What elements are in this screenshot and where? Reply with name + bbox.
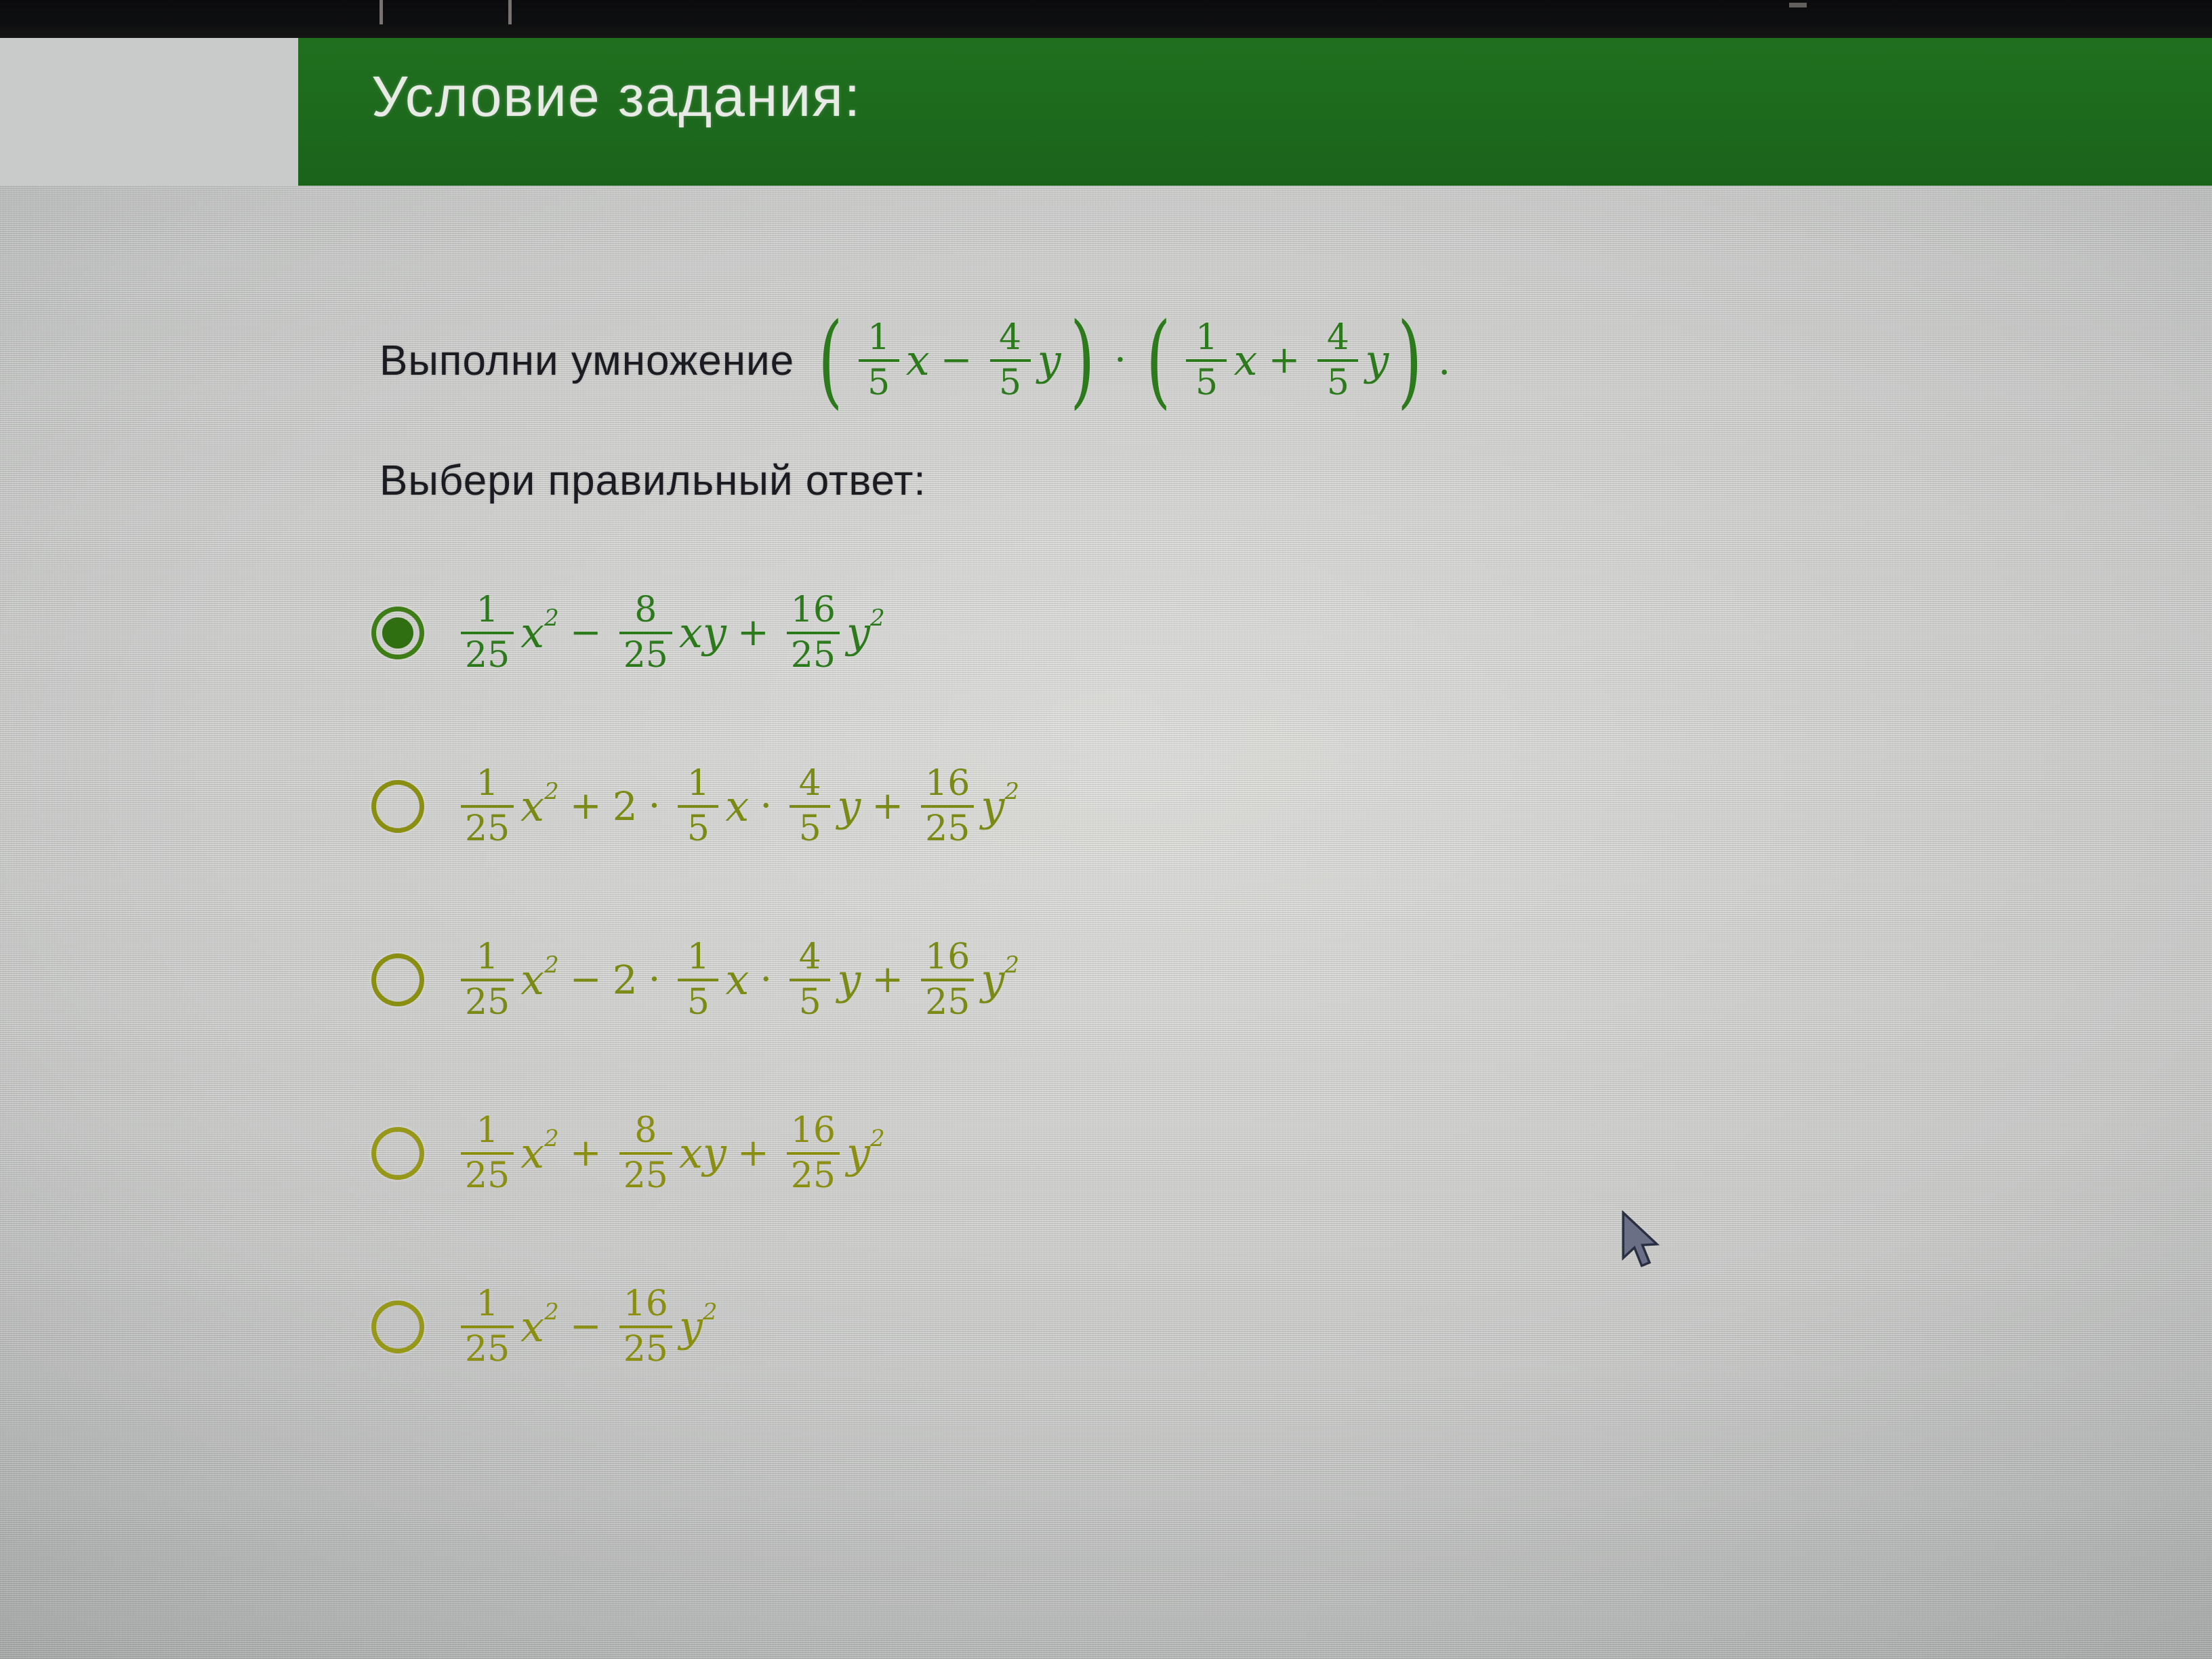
variable-y: y <box>679 1306 703 1348</box>
fraction-denominator: 25 <box>461 813 514 846</box>
fraction-1-5: 1 5 <box>678 941 718 1020</box>
multiply-dot: · <box>760 787 772 825</box>
monitor-photo: Условие задания: Выполни умножение ( 1 5… <box>0 0 2212 1659</box>
fraction-bar <box>921 979 974 981</box>
fraction-1-5: 1 5 <box>678 767 718 846</box>
open-paren-2: ( <box>1146 324 1170 397</box>
answer-expression-5: 1 25 x 2 − 16 25 y 2 <box>454 1288 718 1367</box>
fraction-numerator: 16 <box>787 1114 840 1147</box>
variable-x: x <box>520 612 544 654</box>
fraction-numerator: 4 <box>995 321 1025 354</box>
answer-expression-2: 1 25 x 2 + 2 · 1 5 <box>454 767 1019 846</box>
fraction-numerator: 16 <box>787 594 840 627</box>
fraction-bar <box>990 359 1031 362</box>
header-left-gutter <box>0 38 298 186</box>
fraction-denominator: 25 <box>461 639 514 672</box>
fraction-1-25: 1 25 <box>461 594 514 673</box>
variable-x: x <box>520 1132 544 1174</box>
fraction-8-25: 8 25 <box>619 594 672 673</box>
fraction-numerator: 4 <box>795 767 825 800</box>
fraction-denominator: 25 <box>461 1160 514 1193</box>
variable-y: y <box>837 959 861 1001</box>
variable-x: x <box>520 785 544 827</box>
multiply-dot: · <box>649 961 661 999</box>
fraction-bar <box>619 632 672 634</box>
fraction-bar <box>790 805 830 808</box>
fraction-1-5-b: 1 5 <box>1186 321 1227 401</box>
fraction-bar <box>787 1152 840 1155</box>
variable-x: x <box>725 785 749 827</box>
fraction-16-25: 16 25 <box>619 1288 672 1367</box>
fraction-numerator: 16 <box>921 767 974 800</box>
fraction-4-5-b: 4 5 <box>1317 321 1358 401</box>
fraction-numerator: 8 <box>630 594 661 627</box>
fraction-numerator: 4 <box>795 941 825 974</box>
fraction-numerator: 1 <box>472 767 503 800</box>
answer-option-1[interactable]: 1 25 x 2 − 8 25 xy + <box>371 565 1862 701</box>
fraction-1-25: 1 25 <box>461 767 514 846</box>
exponent-2: 2 <box>544 607 559 630</box>
fraction-denominator: 5 <box>1191 367 1222 400</box>
fraction-numerator: 16 <box>619 1288 672 1321</box>
radio-button-4[interactable] <box>371 1127 424 1180</box>
radio-button-3[interactable] <box>371 954 424 1006</box>
fraction-16-25: 16 25 <box>787 594 840 673</box>
radio-button-5[interactable] <box>371 1300 424 1353</box>
exponent-2: 2 <box>544 1300 559 1324</box>
plus-operator: + <box>737 1134 769 1172</box>
fraction-4-5-a: 4 5 <box>990 321 1031 401</box>
fraction-denominator: 25 <box>619 1333 672 1366</box>
variable-xy: xy <box>679 1132 726 1174</box>
fraction-bar <box>461 805 514 808</box>
close-paren-2: ) <box>1398 324 1422 397</box>
exponent-2: 2 <box>544 954 559 977</box>
minus-operator: − <box>570 1308 602 1346</box>
sentence-period: . <box>1438 341 1450 380</box>
answer-option-5[interactable]: 1 25 x 2 − 16 25 y 2 <box>371 1259 1862 1395</box>
variable-y: y <box>981 785 1004 827</box>
variable-y-2: y <box>1365 340 1389 382</box>
fraction-4-5: 4 5 <box>790 767 830 846</box>
bezel-reflection-1 <box>380 0 383 24</box>
fraction-bar <box>787 632 840 634</box>
fraction-numerator: 1 <box>683 767 714 800</box>
exponent-2: 2 <box>870 607 885 630</box>
fraction-1-25: 1 25 <box>461 1114 514 1193</box>
answer-option-2[interactable]: 1 25 x 2 + 2 · 1 5 <box>371 739 1862 874</box>
fraction-bar <box>678 805 718 808</box>
plus-operator: + <box>1268 342 1300 380</box>
fraction-1-25: 1 25 <box>461 941 514 1020</box>
exponent-2: 2 <box>703 1300 718 1324</box>
fraction-bar <box>678 979 718 981</box>
lesson-page: Условие задания: Выполни умножение ( 1 5… <box>0 38 2212 1659</box>
multiply-dot: · <box>760 961 772 999</box>
fraction-denominator: 25 <box>921 813 974 846</box>
variable-y: y <box>837 785 861 827</box>
exponent-2: 2 <box>544 780 559 803</box>
fraction-denominator: 25 <box>619 639 672 672</box>
answer-expression-1: 1 25 x 2 − 8 25 xy + <box>454 594 885 673</box>
fraction-numerator: 1 <box>472 1288 503 1321</box>
fraction-numerator: 4 <box>1323 321 1353 354</box>
fraction-denominator: 5 <box>1323 367 1353 400</box>
bezel-reflection-3 <box>1789 3 1807 7</box>
exponent-2: 2 <box>544 1127 559 1150</box>
plus-operator: + <box>872 961 903 999</box>
fraction-numerator: 1 <box>472 941 503 974</box>
fraction-numerator: 8 <box>630 1114 661 1147</box>
variable-x: x <box>520 1306 544 1348</box>
fraction-denominator: 25 <box>787 639 840 672</box>
fraction-denominator: 5 <box>995 367 1025 400</box>
fraction-bar <box>1317 359 1358 362</box>
fraction-bar <box>619 1152 672 1155</box>
answer-option-4[interactable]: 1 25 x 2 + 8 25 xy + <box>371 1086 1862 1221</box>
fraction-denominator: 25 <box>619 1160 672 1193</box>
mouse-cursor <box>1621 1210 1668 1279</box>
fraction-16-25: 16 25 <box>921 767 974 846</box>
fraction-bar <box>461 1326 514 1328</box>
fraction-4-5: 4 5 <box>790 941 830 1020</box>
exponent-2: 2 <box>1004 954 1019 977</box>
fraction-8-25: 8 25 <box>619 1114 672 1193</box>
fraction-numerator: 16 <box>921 941 974 974</box>
exponent-2: 2 <box>1004 780 1019 803</box>
fraction-bar <box>790 979 830 981</box>
variable-y: y <box>981 959 1004 1001</box>
fraction-bar <box>921 805 974 808</box>
open-paren-1: ( <box>818 324 842 397</box>
bezel-reflection-2 <box>508 0 512 24</box>
answer-options-list: 1 25 x 2 − 8 25 xy + <box>371 565 1862 1433</box>
plus-operator: + <box>570 1134 602 1172</box>
fraction-numerator: 1 <box>472 594 503 627</box>
variable-x-1: x <box>906 340 930 382</box>
plus-operator: + <box>570 787 602 825</box>
minus-operator: − <box>941 342 972 380</box>
plus-operator: + <box>872 787 903 825</box>
answer-expression-4: 1 25 x 2 + 8 25 xy + <box>454 1114 885 1193</box>
fraction-bar <box>461 979 514 981</box>
close-paren-1: ) <box>1070 324 1094 397</box>
variable-x-2: x <box>1233 340 1257 382</box>
variable-x: x <box>725 959 749 1001</box>
coefficient-2: 2 <box>613 787 638 826</box>
fraction-bar <box>461 632 514 634</box>
fraction-denominator: 5 <box>795 813 825 846</box>
variable-y-1: y <box>1038 340 1061 382</box>
variable-y: y <box>846 612 870 654</box>
fraction-bar <box>1186 359 1227 362</box>
fraction-denominator: 25 <box>787 1160 840 1193</box>
question-prompt: Выполни умножение <box>380 337 794 385</box>
multiply-dot: · <box>1114 342 1126 380</box>
fraction-denominator: 5 <box>683 813 714 846</box>
question-expression: ( 1 5 x − 4 5 y ) · <box>809 321 1450 401</box>
multiply-dot: · <box>649 787 661 825</box>
fraction-denominator: 25 <box>921 986 974 1019</box>
fraction-denominator: 25 <box>461 986 514 1019</box>
variable-xy: xy <box>679 612 726 654</box>
fraction-denominator: 5 <box>863 367 894 400</box>
fraction-1-5-a: 1 5 <box>859 321 899 401</box>
radio-button-2[interactable] <box>371 780 424 833</box>
coefficient-2: 2 <box>613 960 638 1000</box>
fraction-16-25: 16 25 <box>921 941 974 1020</box>
fraction-bar <box>461 1152 514 1155</box>
fraction-numerator: 1 <box>1191 321 1222 354</box>
answer-option-3[interactable]: 1 25 x 2 − 2 · 1 5 <box>371 912 1862 1048</box>
minus-operator: − <box>570 614 602 652</box>
plus-operator: + <box>737 614 769 652</box>
fraction-bar <box>859 359 899 362</box>
minus-operator: − <box>570 961 602 999</box>
fraction-denominator: 5 <box>683 986 714 1019</box>
task-content: Выполни умножение ( 1 5 x − 4 5 <box>0 186 2212 1659</box>
variable-x: x <box>520 959 544 1001</box>
page-title: Условие задания: <box>371 64 861 129</box>
fraction-numerator: 1 <box>683 941 714 974</box>
fraction-bar <box>619 1326 672 1328</box>
fraction-numerator: 1 <box>863 321 894 354</box>
choose-answer-label: Выбери правильный ответ: <box>380 457 926 505</box>
radio-button-1[interactable] <box>371 607 424 659</box>
fraction-16-25: 16 25 <box>787 1114 840 1193</box>
answer-expression-3: 1 25 x 2 − 2 · 1 5 <box>454 941 1019 1020</box>
question-line: Выполни умножение ( 1 5 x − 4 5 <box>380 321 1450 401</box>
fraction-numerator: 1 <box>472 1114 503 1147</box>
fraction-1-25: 1 25 <box>461 1288 514 1367</box>
variable-y: y <box>846 1132 870 1174</box>
monitor-bezel <box>0 0 2212 38</box>
fraction-denominator: 25 <box>461 1333 514 1366</box>
fraction-denominator: 5 <box>795 986 825 1019</box>
exponent-2: 2 <box>870 1127 885 1150</box>
